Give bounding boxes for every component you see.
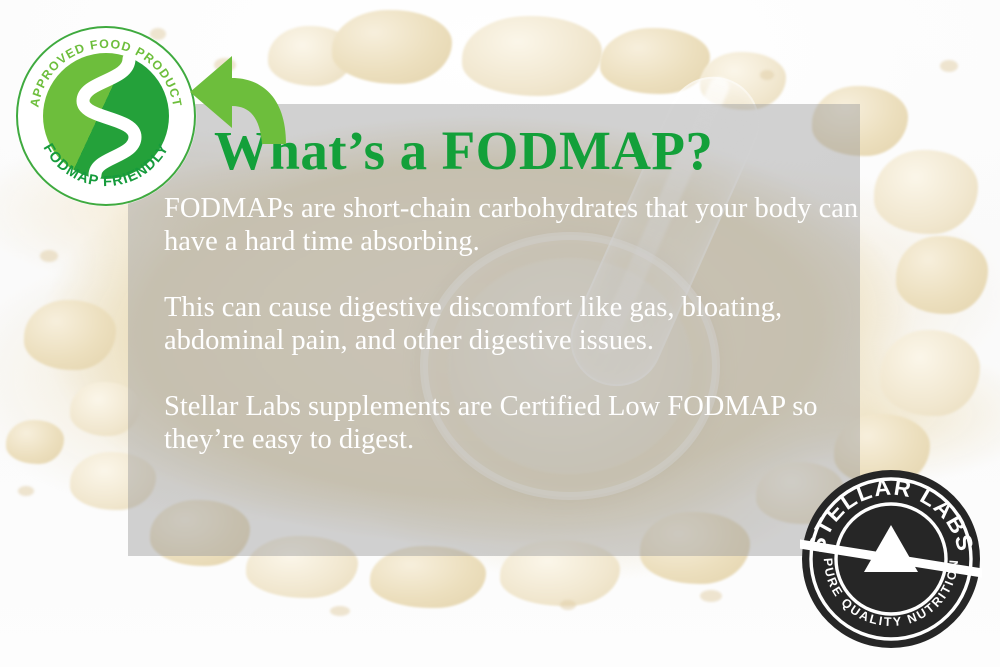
logo-bottom-arc-label: PURE QUALITY NUTRITION [821, 557, 961, 629]
powder-crumb [462, 16, 602, 96]
powder-dust [940, 60, 958, 72]
promo-graphic: What’s a FODMAP? FODMAPs are short-chain… [0, 0, 1000, 667]
paragraph-1: FODMAPs are short-chain carbohydrates th… [164, 192, 864, 258]
svg-text:PURE QUALITY NUTRITION: PURE QUALITY NUTRITION [821, 557, 961, 629]
body-copy: FODMAPs are short-chain carbohydrates th… [164, 192, 864, 456]
powder-crumb [332, 10, 452, 84]
powder-dust [700, 590, 722, 602]
stellar-labs-logo: STELLAR LABS PURE QUALITY NUTRITION [800, 468, 982, 650]
powder-dust [18, 486, 34, 496]
paragraph-2: This can cause digestive discomfort like… [164, 291, 864, 357]
powder-crumb [896, 236, 988, 314]
svg-text:FODMAP FRIENDLY: FODMAP FRIENDLY [40, 141, 173, 190]
powder-dust [330, 606, 350, 616]
fodmap-friendly-badge: APPROVED FOOD PRODUCT FODMAP FRIENDLY [16, 26, 196, 206]
powder-crumb [880, 330, 980, 416]
logo-bottom-arc-text: PURE QUALITY NUTRITION [800, 468, 982, 650]
badge-bottom-arc-text: FODMAP FRIENDLY [16, 26, 196, 206]
powder-dust [560, 600, 576, 610]
powder-crumb [874, 150, 978, 234]
curved-arrow-left-icon [186, 48, 290, 152]
powder-dust [760, 70, 774, 80]
powder-crumb [24, 300, 116, 370]
badge-bottom-arc-label: FODMAP FRIENDLY [40, 141, 173, 190]
paragraph-3: Stellar Labs supplements are Certified L… [164, 390, 864, 456]
powder-crumb [6, 420, 64, 464]
powder-dust [40, 250, 58, 262]
